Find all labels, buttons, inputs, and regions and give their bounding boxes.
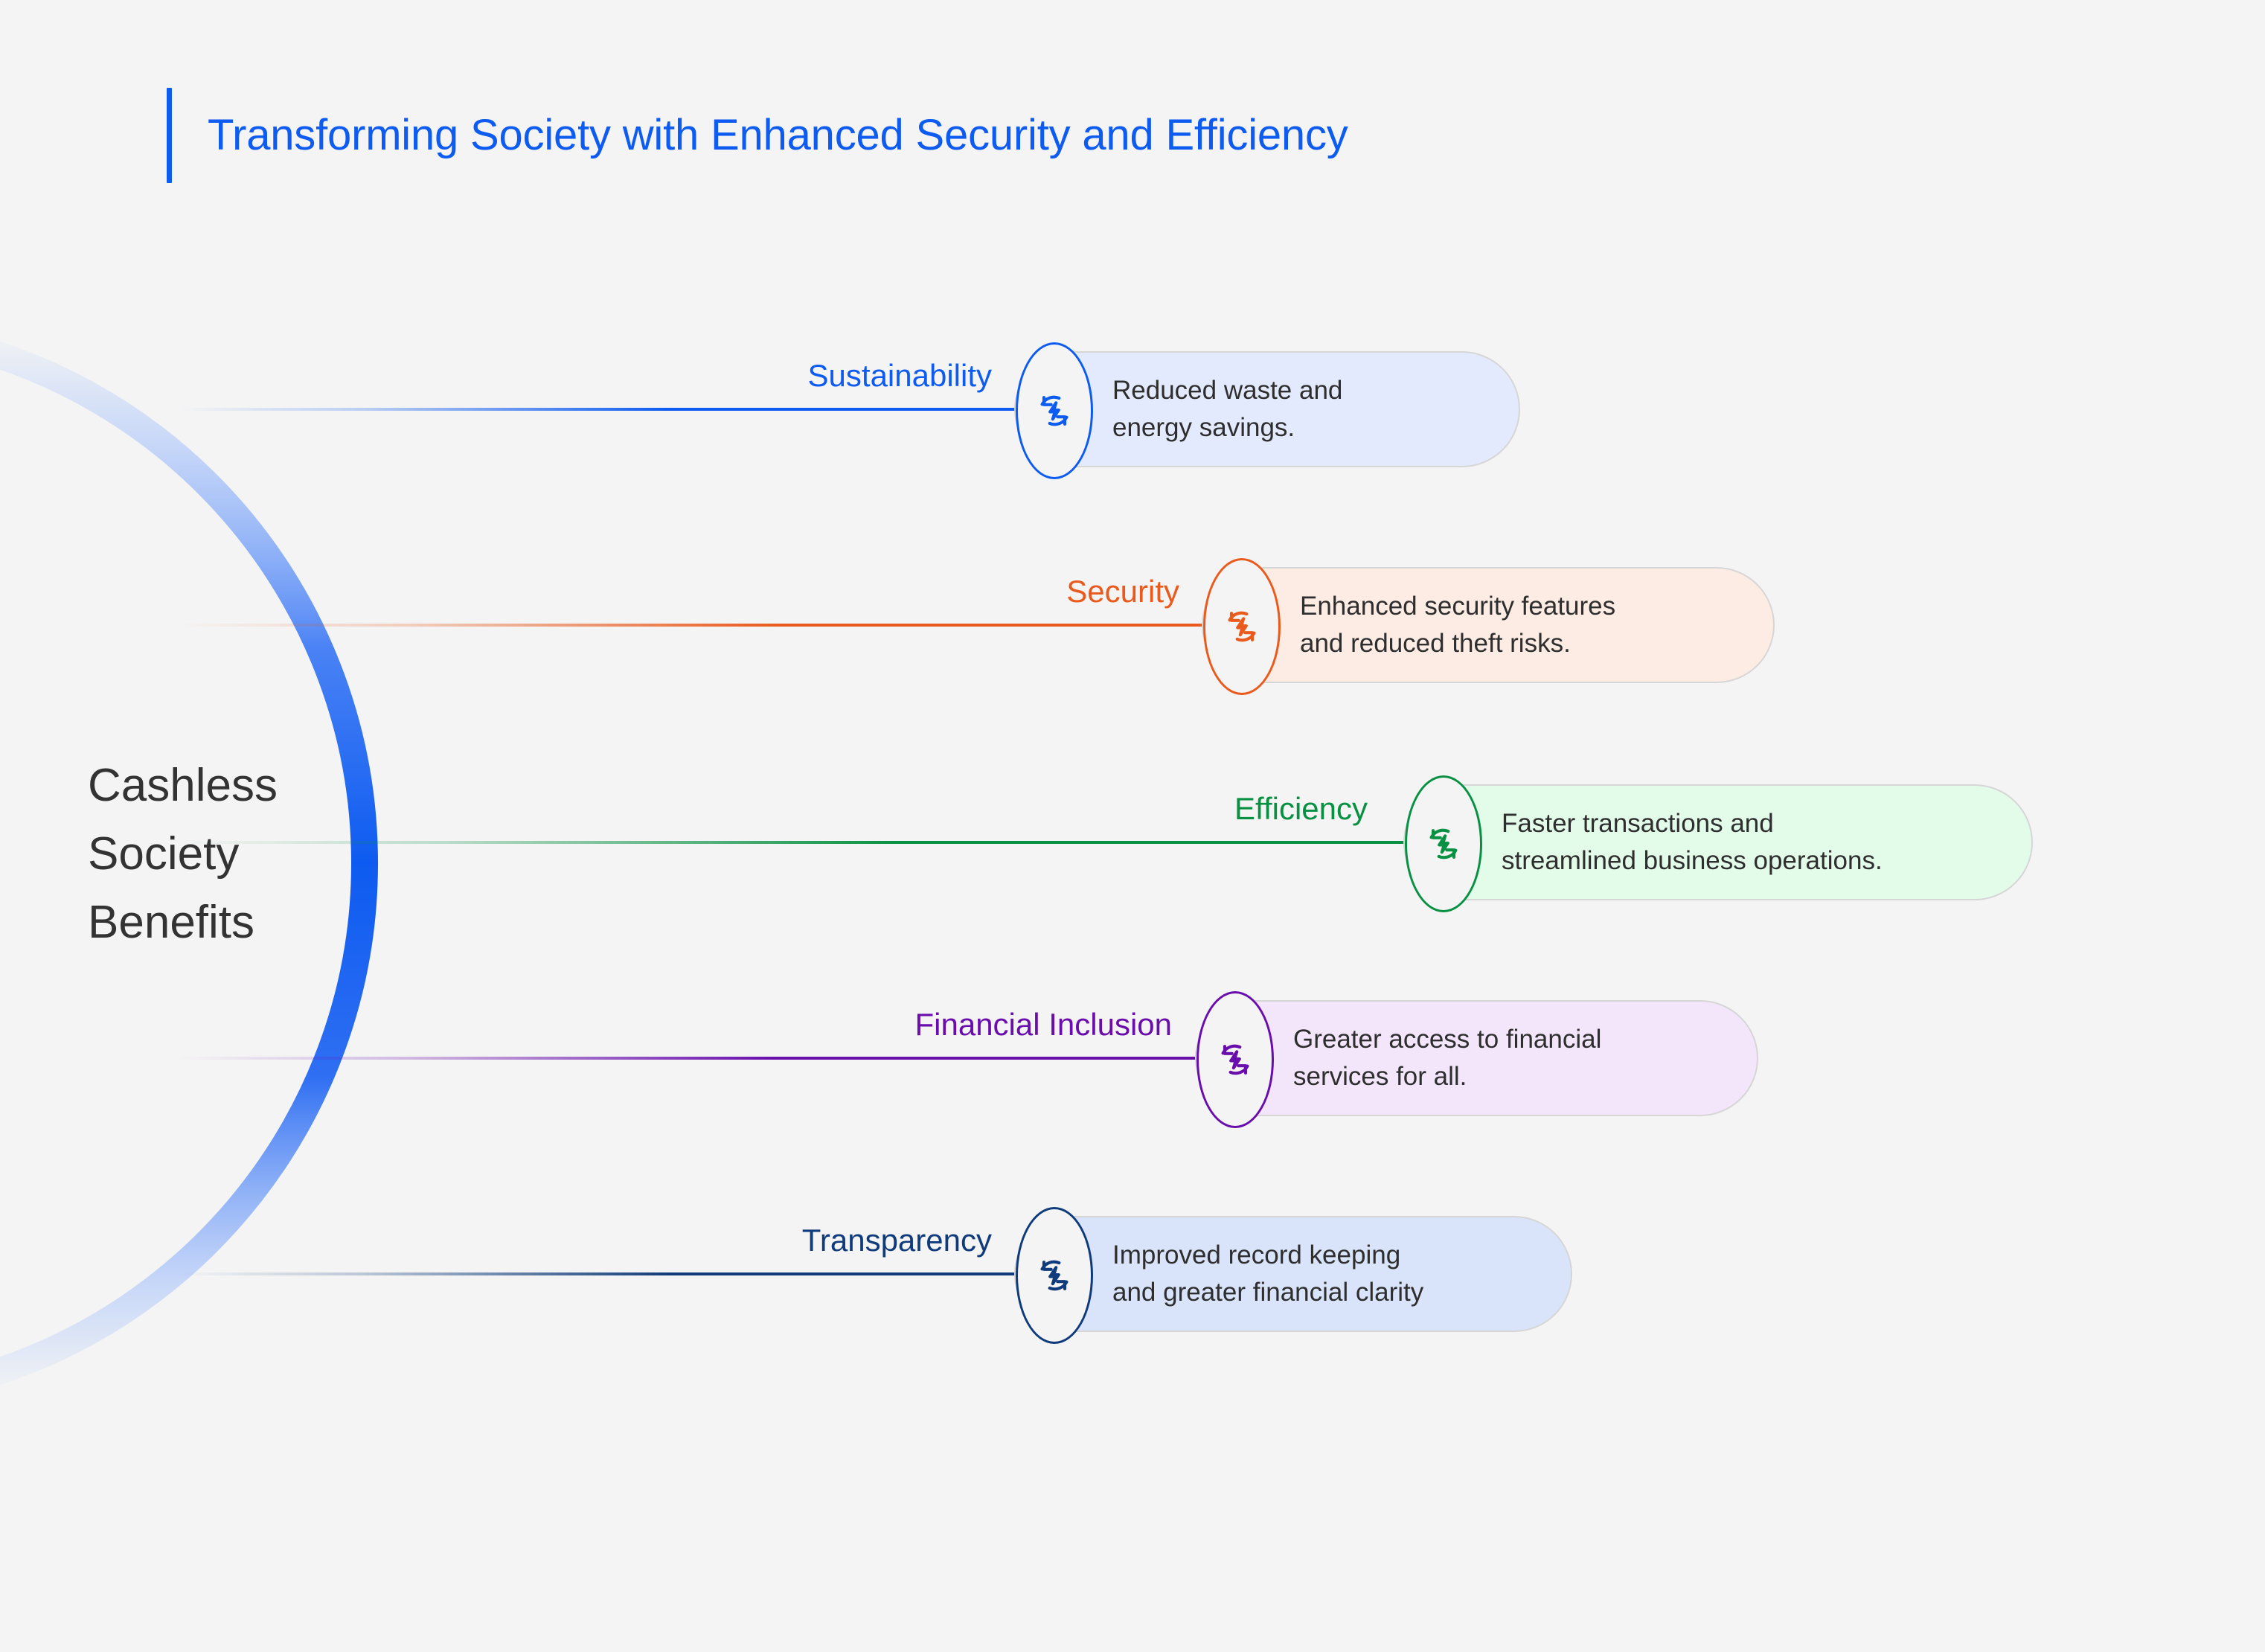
benefit-description: Enhanced security features and reduced t… — [1300, 588, 1615, 662]
benefit-description: Greater access to financial services for… — [1293, 1021, 1601, 1095]
page-header: Transforming Society with Enhanced Secur… — [167, 88, 1348, 183]
benefit-row: Efficiency Faster transactions and strea… — [0, 783, 2265, 902]
benefit-row: Sustainability Reduced waste and energy … — [0, 350, 2265, 469]
benefit-row: Transparency Improved record keeping and… — [0, 1214, 2265, 1334]
recycle-bolt-icon — [1016, 1207, 1093, 1344]
connector-line — [179, 624, 1214, 627]
benefit-pill[interactable]: Greater access to financial services for… — [1195, 1000, 1758, 1116]
benefit-pill[interactable]: Enhanced security features and reduced t… — [1202, 567, 1775, 683]
recycle-bolt-icon — [1196, 991, 1274, 1128]
benefit-pill[interactable]: Faster transactions and streamlined busi… — [1403, 784, 2033, 900]
infographic-canvas: Transforming Society with Enhanced Secur… — [0, 0, 2265, 1652]
benefit-description: Improved record keeping and greater fina… — [1112, 1237, 1423, 1310]
benefit-label[interactable]: Financial Inclusion — [914, 1009, 1172, 1040]
benefit-description: Reduced waste and energy savings. — [1112, 372, 1342, 446]
connector-line — [179, 1272, 1026, 1275]
benefit-description: Faster transactions and streamlined busi… — [1502, 805, 1883, 879]
connector-line — [179, 408, 1026, 411]
page-title: Transforming Society with Enhanced Secur… — [208, 114, 1348, 157]
recycle-bolt-icon — [1203, 558, 1281, 695]
benefit-label[interactable]: Transparency — [802, 1225, 992, 1256]
benefit-label[interactable]: Security — [1066, 576, 1179, 607]
benefit-pill[interactable]: Improved record keeping and greater fina… — [1014, 1216, 1572, 1332]
benefit-row: Security Enhanced security features and … — [0, 566, 2265, 685]
benefit-label[interactable]: Efficiency — [1234, 793, 1368, 825]
benefit-pill[interactable]: Reduced waste and energy savings. — [1014, 351, 1520, 467]
benefit-label[interactable]: Sustainability — [808, 360, 992, 391]
connector-line — [179, 1057, 1207, 1060]
benefit-row: Financial Inclusion Greater access to fi… — [0, 999, 2265, 1118]
recycle-bolt-icon — [1405, 775, 1482, 912]
connector-line — [179, 841, 1415, 844]
title-accent-bar — [167, 88, 172, 183]
recycle-bolt-icon — [1016, 342, 1093, 479]
